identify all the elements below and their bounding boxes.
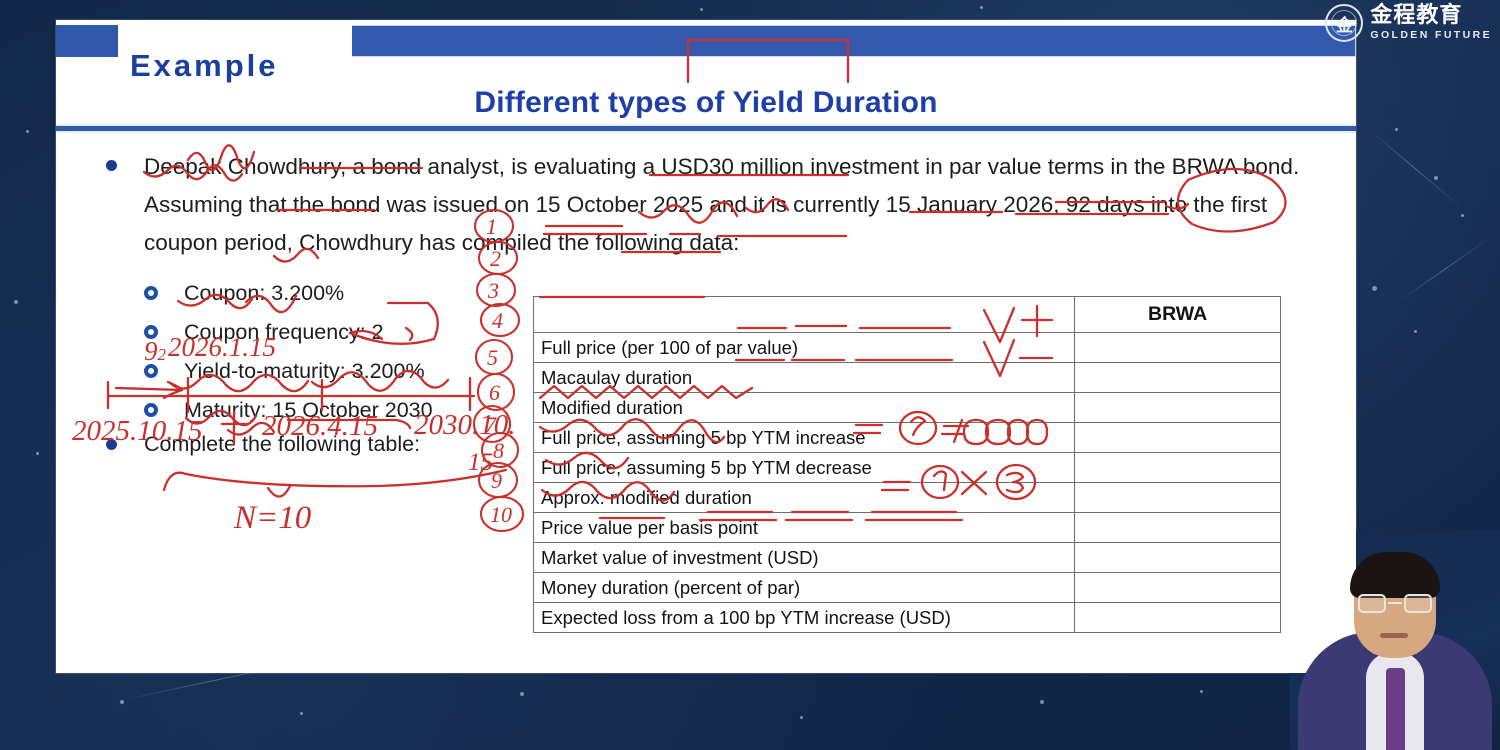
table-cell-label: Money duration (percent of par)	[534, 573, 1075, 603]
table-cell-value[interactable]	[1075, 543, 1281, 573]
list-item: Maturity: 15 October 2030	[144, 393, 564, 432]
bullet-dot-icon	[106, 160, 117, 171]
table-cell-value[interactable]	[1075, 453, 1281, 483]
screen-stage: Example Different types of Yield Duratio…	[0, 0, 1500, 750]
glasses-lens-right	[1404, 594, 1432, 613]
header-accent-bar	[352, 25, 1356, 57]
slide-body: Deepak Chowdhury, a bond analyst, is eva…	[56, 138, 1356, 673]
table-header-blank	[534, 297, 1075, 333]
table-row: Macaulay duration	[534, 363, 1281, 393]
table-cell-label: Full price, assuming 5 bp YTM decrease	[534, 453, 1075, 483]
table-row: Market value of investment (USD)	[534, 543, 1281, 573]
star-decoration	[26, 130, 29, 133]
list-item-label: Yield-to-maturity: 3.200%	[184, 359, 425, 383]
ring-bullet-icon	[144, 403, 158, 417]
star-decoration	[700, 8, 703, 11]
glasses-bridge	[1388, 602, 1402, 604]
table-row: Price value per basis point	[534, 513, 1281, 543]
table-row: Full price, assuming 5 bp YTM decrease	[534, 453, 1281, 483]
presentation-slide: Example Different types of Yield Duratio…	[56, 20, 1356, 673]
star-decoration	[1200, 690, 1203, 693]
table-cell-value[interactable]	[1075, 573, 1281, 603]
table-cell-label: Full price (per 100 of par value)	[534, 333, 1075, 363]
table-cell-label: Macaulay duration	[534, 363, 1075, 393]
table-cell-value[interactable]	[1075, 603, 1281, 633]
star-decoration	[520, 692, 524, 696]
list-item: Yield-to-maturity: 3.200%	[144, 354, 564, 393]
table-row: Expected loss from a 100 bp YTM increase…	[534, 603, 1281, 633]
presenter-mouth	[1380, 633, 1408, 638]
glasses-lens-left	[1358, 594, 1386, 613]
brand-name-cn: 金程教育	[1370, 5, 1492, 27]
table-header-row: BRWA	[534, 297, 1281, 333]
presenter-video-overlay[interactable]	[1290, 530, 1500, 750]
list-item-label: Coupon: 3.200%	[184, 281, 344, 305]
ring-bullet-icon	[144, 364, 158, 378]
header-divider	[56, 124, 1356, 133]
table-cell-value[interactable]	[1075, 483, 1281, 513]
duration-table: BRWA Full price (per 100 of par value) M…	[533, 296, 1281, 633]
table-cell-value[interactable]	[1075, 513, 1281, 543]
glasses-icon	[1356, 594, 1434, 614]
star-decoration	[300, 712, 303, 715]
table-cell-label: Market value of investment (USD)	[534, 543, 1075, 573]
list-item-label: Coupon frequency: 2	[184, 320, 384, 344]
header-accent-block-left	[56, 25, 118, 57]
star-decoration	[1372, 286, 1377, 291]
bond-facts-list: Coupon: 3.200% Coupon frequency: 2 Yield…	[144, 276, 564, 432]
list-item-label: Maturity: 15 October 2030	[184, 398, 433, 422]
star-decoration	[36, 452, 39, 455]
table-prompt-label: Complete the following table:	[144, 428, 586, 460]
table-row: Modified duration	[534, 393, 1281, 423]
constellation-line	[1369, 130, 1462, 208]
bullet-dot-icon	[106, 439, 117, 450]
star-decoration	[1395, 128, 1398, 131]
ring-bullet-icon	[144, 325, 158, 339]
constellation-line	[1400, 237, 1491, 301]
table-cell-label: Approx. modified duration	[534, 483, 1075, 513]
table-cell-label: Price value per basis point	[534, 513, 1075, 543]
seal-icon: 金	[1325, 4, 1363, 42]
brand-name-en: GOLDEN FUTURE	[1370, 30, 1492, 41]
table-cell-value[interactable]	[1075, 363, 1281, 393]
list-item: Coupon: 3.200%	[144, 276, 564, 315]
star-decoration	[1434, 176, 1438, 180]
table-cell-value[interactable]	[1075, 423, 1281, 453]
table-prompt-bullet: Complete the following table:	[106, 428, 586, 460]
brand-logo: 金 金程教育 GOLDEN FUTURE	[1325, 4, 1492, 42]
star-decoration	[980, 6, 983, 9]
section-label: Example	[130, 48, 279, 84]
star-decoration	[1461, 214, 1464, 217]
table-row: Approx. modified duration	[534, 483, 1281, 513]
table-row: Money duration (percent of par)	[534, 573, 1281, 603]
star-decoration	[1414, 330, 1417, 333]
presenter-tie	[1386, 668, 1405, 750]
table-row: Full price, assuming 5 bp YTM increase	[534, 423, 1281, 453]
table-cell-label: Expected loss from a 100 bp YTM increase…	[534, 603, 1075, 633]
star-decoration	[800, 716, 803, 719]
table-row: Full price (per 100 of par value)	[534, 333, 1281, 363]
star-decoration	[1040, 700, 1044, 704]
intro-bullet: Deepak Chowdhury, a bond analyst, is eva…	[106, 148, 1321, 262]
table-header-brwa: BRWA	[1075, 297, 1281, 333]
presenter-eyebrow-left	[1360, 588, 1384, 592]
page-title: Different types of Yield Duration	[56, 86, 1356, 120]
table-cell-label: Full price, assuming 5 bp YTM increase	[534, 423, 1075, 453]
list-item: Coupon frequency: 2	[144, 315, 564, 354]
intro-paragraph: Deepak Chowdhury, a bond analyst, is eva…	[144, 148, 1321, 262]
star-decoration	[14, 300, 18, 304]
presenter-eyebrow-right	[1402, 588, 1426, 592]
table-cell-value[interactable]	[1075, 333, 1281, 363]
ring-bullet-icon	[144, 286, 158, 300]
table-cell-label: Modified duration	[534, 393, 1075, 423]
table-cell-value[interactable]	[1075, 393, 1281, 423]
brand-wordmark: 金程教育 GOLDEN FUTURE	[1370, 5, 1492, 41]
